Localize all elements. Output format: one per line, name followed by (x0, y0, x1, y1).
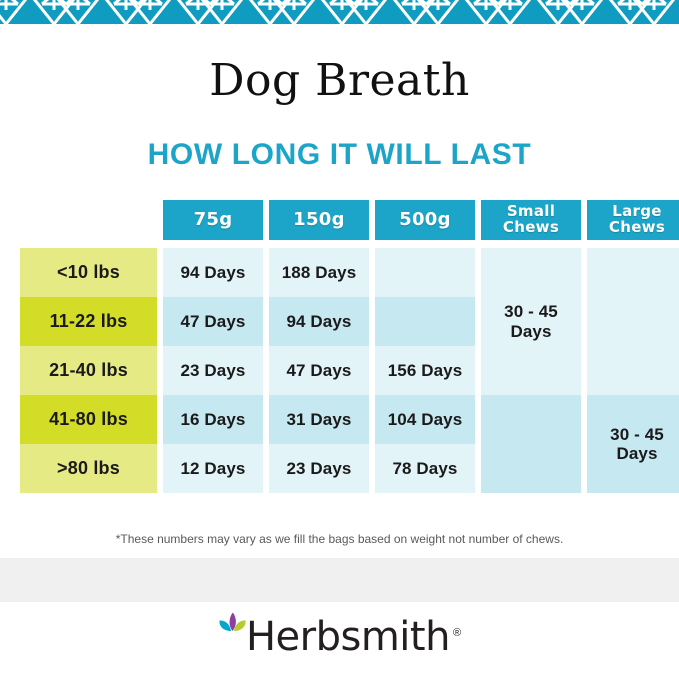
table-cell-150g-21-40: 47 Days (269, 346, 369, 395)
table-cell-value: 47 Days (287, 361, 352, 380)
table-cell-large-chews-merged: 30 - 45 Days (587, 395, 679, 493)
table-cell-500g-under10 (375, 248, 475, 297)
herbsmith-flower-icon (218, 611, 248, 657)
table-cell-value: 94 Days (181, 263, 246, 282)
table-cell-150g-41-80: 31 Days (269, 395, 369, 444)
herbsmith-wordmark: Herbsmith (246, 617, 450, 657)
dosage-duration-table: 75g 150g 500g Small Chews Large Chews <1… (20, 200, 664, 495)
table-cell-value: 94 Days (287, 312, 352, 331)
registered-trademark-icon: ® (453, 627, 461, 639)
brand-logo: Herbsmith ® (0, 604, 679, 664)
table-cell-75g-under10: 94 Days (163, 248, 263, 297)
table-cell-500g-41-80: 104 Days (375, 395, 475, 444)
geometric-pattern-icon (0, 0, 679, 24)
column-header-150g-label: 150g (293, 210, 345, 229)
footer-divider-band (0, 558, 679, 602)
column-header-large-chews-line2: Chews (609, 220, 665, 236)
table-cell-150g-under10: 188 Days (269, 248, 369, 297)
row-label-over-80-lbs: >80 lbs (20, 444, 157, 493)
table-cell-value: 31 Days (287, 410, 352, 429)
page-title: Dog Breath (0, 57, 679, 105)
row-label-41-80-lbs: 41-80 lbs (20, 395, 157, 444)
column-header-500g: 500g (375, 200, 475, 240)
table-cell-value: 12 Days (181, 459, 246, 478)
row-label-under-10-lbs-text: <10 lbs (57, 262, 120, 283)
column-header-75g-label: 75g (194, 210, 233, 229)
table-cell-value: 23 Days (181, 361, 246, 380)
column-header-500g-label: 500g (399, 210, 451, 229)
table-cell-150g-11-22: 94 Days (269, 297, 369, 346)
decorative-pattern-band (0, 0, 679, 24)
table-cell-small-chews-empty (481, 395, 581, 493)
column-header-large-chews: Large Chews (587, 200, 679, 240)
table-cell-75g-11-22: 47 Days (163, 297, 263, 346)
table-cell-150g-over80: 23 Days (269, 444, 369, 493)
table-cell-value: 16 Days (181, 410, 246, 429)
row-label-21-40-lbs: 21-40 lbs (20, 346, 157, 395)
table-cell-value: 104 Days (388, 410, 463, 429)
table-cell-75g-41-80: 16 Days (163, 395, 263, 444)
table-cell-small-chews-merged: 30 - 45 Days (481, 248, 581, 395)
row-label-under-10-lbs: <10 lbs (20, 248, 157, 297)
column-header-150g: 150g (269, 200, 369, 240)
table-cell-value-line2: Days (510, 322, 551, 341)
column-header-75g: 75g (163, 200, 263, 240)
table-cell-500g-11-22 (375, 297, 475, 346)
table-cell-value: 23 Days (287, 459, 352, 478)
table-cell-500g-over80: 78 Days (375, 444, 475, 493)
table-cell-value-line1: 30 - 45 (504, 302, 558, 321)
table-cell-75g-21-40: 23 Days (163, 346, 263, 395)
column-header-small-chews: Small Chews (481, 200, 581, 240)
table-cell-value-line2: Days (616, 444, 657, 463)
row-label-21-40-lbs-text: 21-40 lbs (49, 360, 128, 381)
row-label-11-22-lbs: 11-22 lbs (20, 297, 157, 346)
table-footnote: *These numbers may vary as we fill the b… (0, 532, 679, 546)
table-cell-value-line1: 30 - 45 (610, 425, 664, 444)
row-label-41-80-lbs-text: 41-80 lbs (49, 409, 128, 430)
table-cell-500g-21-40: 156 Days (375, 346, 475, 395)
table-cell-value: 188 Days (282, 263, 357, 282)
table-cell-75g-over80: 12 Days (163, 444, 263, 493)
row-label-11-22-lbs-text: 11-22 lbs (50, 311, 128, 332)
table-cell-large-chews-empty (587, 248, 679, 395)
table-cell-value: 78 Days (393, 459, 458, 478)
row-label-over-80-lbs-text: >80 lbs (57, 458, 120, 479)
flower-petals-icon (218, 611, 248, 657)
table-cell-value: 156 Days (388, 361, 463, 380)
page-subtitle: HOW LONG IT WILL LAST (0, 138, 679, 171)
column-header-small-chews-line2: Chews (503, 220, 559, 236)
table-cell-value: 47 Days (181, 312, 246, 331)
